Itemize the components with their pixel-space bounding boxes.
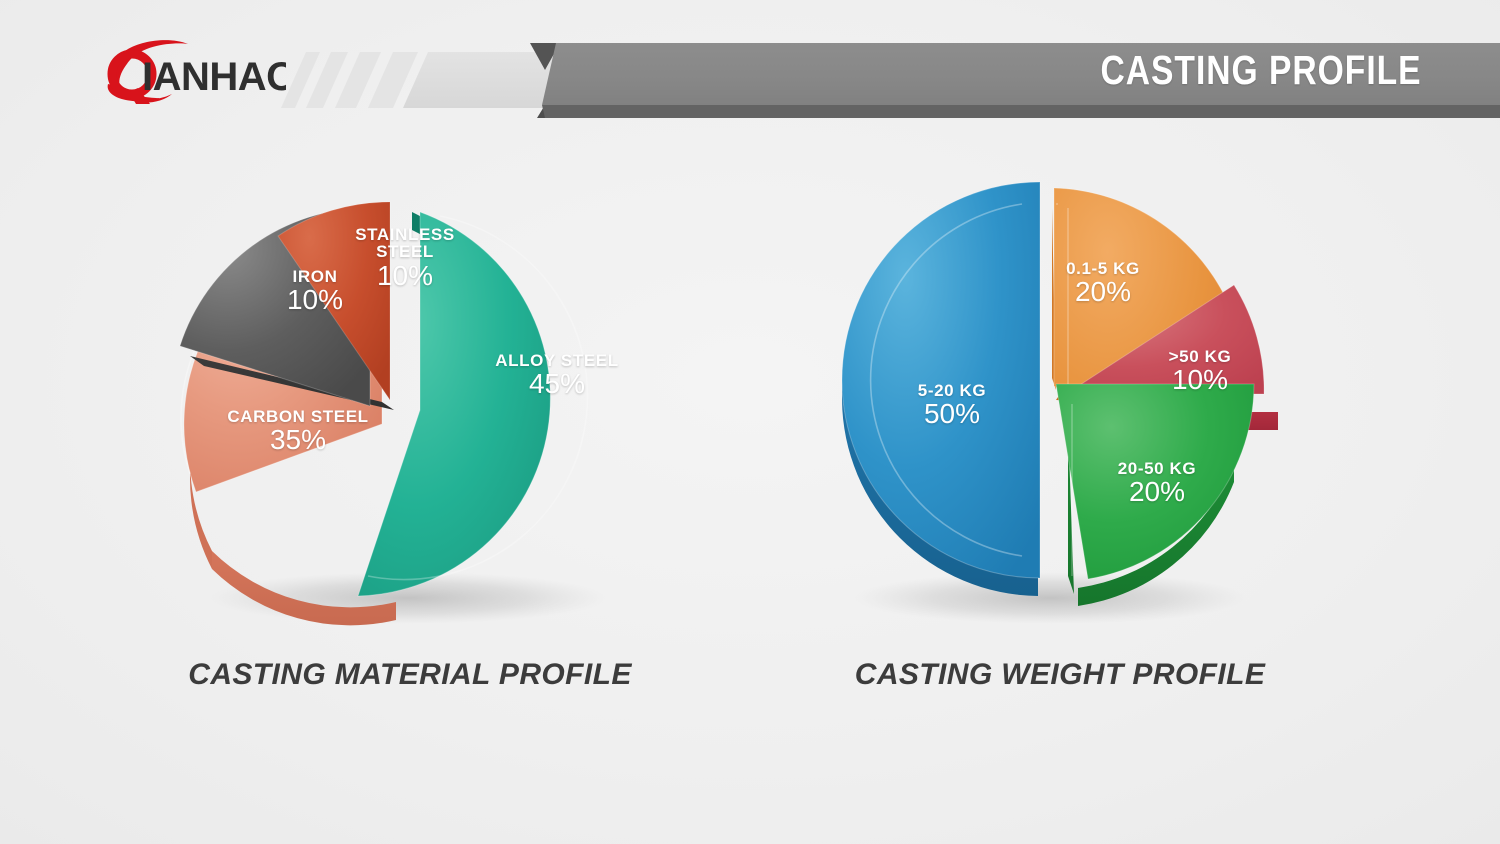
pie-weight: 5-20 KG 50% 0.1-5 KG 20% >50 KG 10% 20-5… (800, 160, 1320, 630)
slice-5-20-kg[interactable] (842, 182, 1040, 596)
pie-material: ALLOY STEEL 45% CARBON STEEL 35% IRON 10… (150, 160, 670, 630)
pie-shadow (854, 572, 1246, 624)
banner-bottom-strip (542, 105, 1500, 118)
banner-stripes (281, 52, 418, 108)
page-title: CASTING PROFILE (1101, 47, 1422, 94)
chart-casting-weight: 5-20 KG 50% 0.1-5 KG 20% >50 KG 10% 20-5… (800, 160, 1320, 720)
chart-caption-weight: CASTING WEIGHT PROFILE (800, 658, 1320, 692)
logo-wordmark: IANHAO (142, 55, 286, 99)
slice-alloy-steel[interactable] (358, 212, 588, 596)
chart-casting-material: ALLOY STEEL 45% CARBON STEEL 35% IRON 10… (150, 160, 670, 720)
page-header: CASTING PROFILE IANHAO (0, 0, 1500, 150)
logo[interactable]: IANHAO (86, 36, 286, 108)
chart-caption-material: CASTING MATERIAL PROFILE (150, 658, 670, 692)
